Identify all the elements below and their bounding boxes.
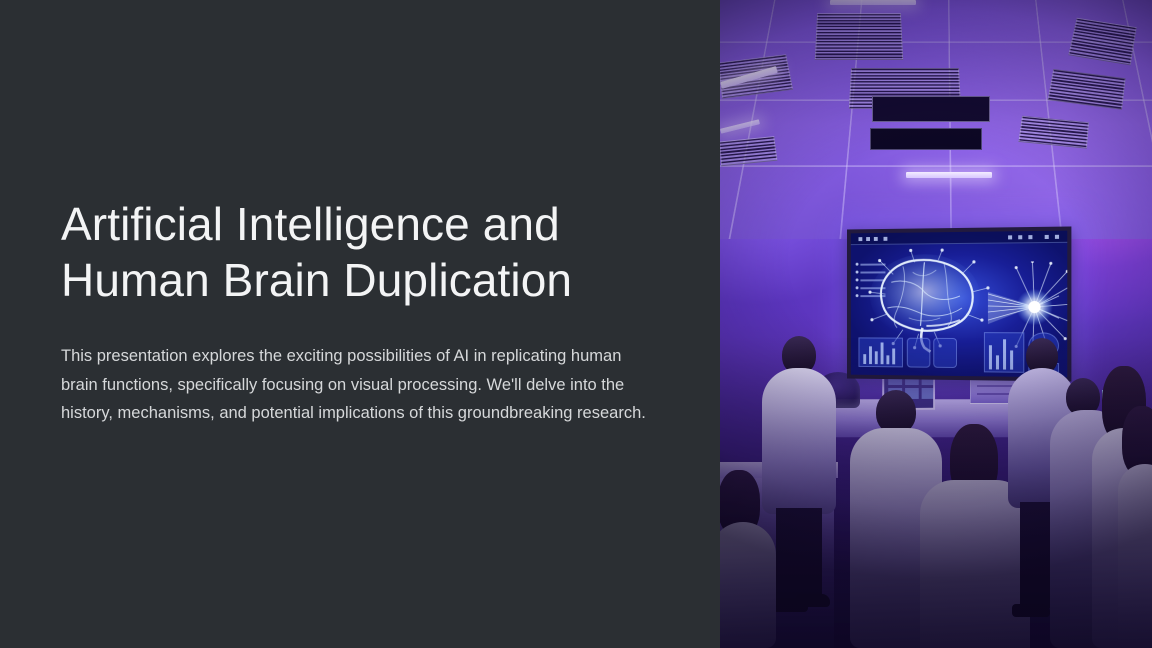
person-shoe	[796, 594, 830, 607]
display-toolbar	[851, 231, 1067, 246]
chart-bar	[989, 345, 992, 369]
chart-bar	[996, 355, 999, 369]
data-panel-scan	[907, 338, 931, 368]
chart-bar	[875, 351, 878, 364]
ceiling-light-fixture	[906, 172, 992, 178]
slide-photo-laboratory	[720, 0, 1152, 648]
toolbar-icon	[884, 237, 888, 241]
person-legs	[776, 508, 822, 604]
slide-body-text: This presentation explores the exciting …	[61, 342, 661, 428]
toolbar-icon	[874, 237, 878, 241]
title-block: Artificial Intelligence and Human Brain …	[61, 196, 661, 308]
data-panel-scan	[933, 338, 957, 368]
ceiling-air-diffuser	[870, 128, 982, 150]
slide-title: Artificial Intelligence and Human Brain …	[61, 196, 661, 308]
legend-bullet	[856, 286, 859, 289]
legend-bullet	[856, 294, 859, 297]
chart-bar	[892, 348, 895, 364]
toolbar-icon	[1028, 235, 1032, 239]
lab-coat	[720, 522, 776, 648]
chart-bar	[881, 342, 884, 364]
ceiling-light-fixture	[830, 0, 916, 5]
slide-text-panel: Artificial Intelligence and Human Brain …	[0, 0, 720, 648]
lab-coat	[1118, 464, 1152, 648]
researcher-person	[1118, 406, 1152, 648]
legend-bullet	[856, 271, 859, 274]
researcher-person	[720, 470, 776, 648]
toolbar-icon	[1018, 235, 1022, 239]
legend-bullet	[856, 263, 859, 266]
legend-bullet	[856, 278, 859, 281]
toolbar-icon	[1055, 235, 1059, 239]
person-shoe	[1012, 604, 1050, 617]
toolbar-icon	[1008, 235, 1012, 239]
ceiling-air-diffuser	[872, 96, 990, 122]
ceiling-vent	[815, 13, 903, 60]
toolbar-icon	[1045, 235, 1049, 239]
chart-bar	[869, 346, 872, 364]
toolbar-icon	[858, 237, 862, 241]
data-panel-chart	[858, 337, 902, 367]
presentation-slide: Artificial Intelligence and Human Brain …	[0, 0, 1152, 648]
chart-bar	[1003, 339, 1006, 369]
chart-bar	[886, 355, 889, 364]
chart-bar	[863, 354, 866, 364]
toolbar-icon	[866, 237, 870, 241]
